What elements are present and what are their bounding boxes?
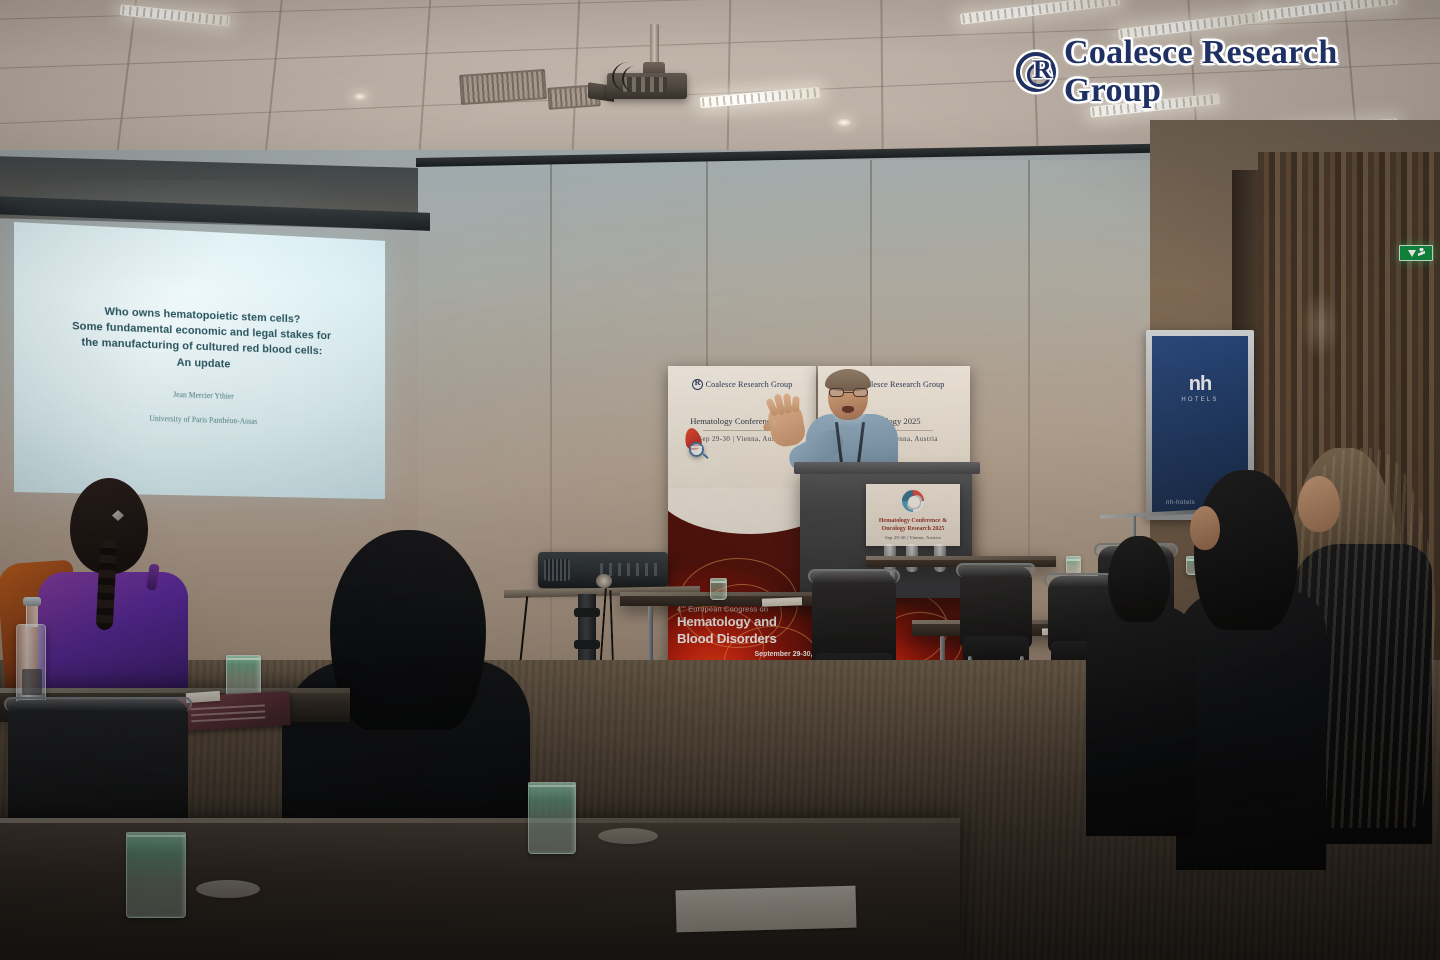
podium-sign-date-location: Sep 29-30 | Vienna, Austria: [885, 535, 941, 540]
ceiling-air-vent: [459, 69, 547, 105]
ceiling-projector-mount: [650, 24, 659, 64]
coalesce-cr-monogram-icon: [1016, 52, 1056, 92]
projection-screen: Who owns hematopoietic stem cells? Some …: [14, 222, 385, 499]
projector-vent-grill: [544, 559, 570, 581]
projector-lens-icon: [596, 574, 612, 588]
attendee-mid-right-dark: [1086, 536, 1196, 836]
table-row: [620, 592, 840, 606]
coalesce-cr-monogram-icon: [692, 379, 703, 390]
podium-sign-title: Hematology Conference & Oncology Researc…: [879, 517, 947, 533]
slide-author: Jean Mercier Ythier: [173, 390, 234, 401]
attendee-right-hijab: [1176, 470, 1326, 830]
green-tinted-water-glass: [528, 782, 576, 854]
banner-congress-title-1: Hematology and: [677, 615, 815, 630]
podium-sign-line-1: Hematology Conference &: [879, 517, 947, 525]
projector-cable: [622, 66, 648, 92]
notepad-icon: [196, 880, 260, 898]
watermark-logo: Coalesce Research Group: [1016, 34, 1440, 110]
watermark-brand-text: Coalesce Research Group: [1064, 34, 1440, 110]
notepad-icon: [762, 597, 802, 606]
banner-congress-date: September 29-30, 2025: [730, 650, 816, 661]
podium-top-surface: [794, 462, 980, 474]
conference-room-photo: Who owns hematopoietic stem cells? Some …: [0, 0, 1440, 960]
notepad-icon: [675, 886, 856, 933]
arrow-down-icon: [1408, 250, 1416, 257]
projector-controls: [600, 563, 658, 576]
hematology-oncology-cell-icon: [900, 488, 926, 514]
attendee-head: [1108, 536, 1170, 622]
attendee-front-left-sari: [36, 478, 206, 708]
notepad-icon: [598, 828, 658, 844]
emergency-exit-running-man-icon: [1418, 248, 1425, 259]
attendee-body: [1086, 606, 1196, 836]
banner-congress-block: 4th European Congress on Hematology and …: [677, 604, 815, 647]
nh-hotels-logo-sub: HOTELS: [1181, 397, 1218, 403]
slide-title: Who owns hematopoietic stem cells? Some …: [72, 302, 331, 375]
eyeglasses-icon: [829, 388, 868, 397]
banner-congress-title-2: Blood Disorders: [677, 632, 815, 647]
ceiling-downlight: [836, 118, 852, 127]
emergency-exit-sign: [1399, 245, 1433, 261]
attendee-body: [1176, 590, 1326, 870]
hijab-icon: [1194, 470, 1298, 630]
podium-conference-sign: Hematology Conference & Oncology Researc…: [866, 484, 960, 546]
blood-drop-magnifier-icon: [682, 428, 708, 462]
speaker-mouth: [842, 406, 854, 413]
podium-sign-line-2: Oncology Research 2025: [879, 525, 947, 533]
attendee-front-left-dark: [282, 530, 530, 830]
curtain-highlight: [1300, 290, 1340, 360]
long-dark-hair: [330, 530, 486, 730]
nh-hotels-logo-icon: nh: [1189, 374, 1211, 394]
slide-affiliation: University of Paris Panthéon-Assas: [149, 414, 257, 426]
banner-brand-text: Coalesce Research Group: [706, 380, 793, 389]
magnifier-shape: [689, 442, 704, 457]
green-tinted-water-glass: [126, 832, 186, 918]
ceiling-downlight: [352, 92, 368, 101]
green-tinted-water-glass: [710, 578, 727, 600]
green-tinted-water-glass: [226, 655, 261, 697]
